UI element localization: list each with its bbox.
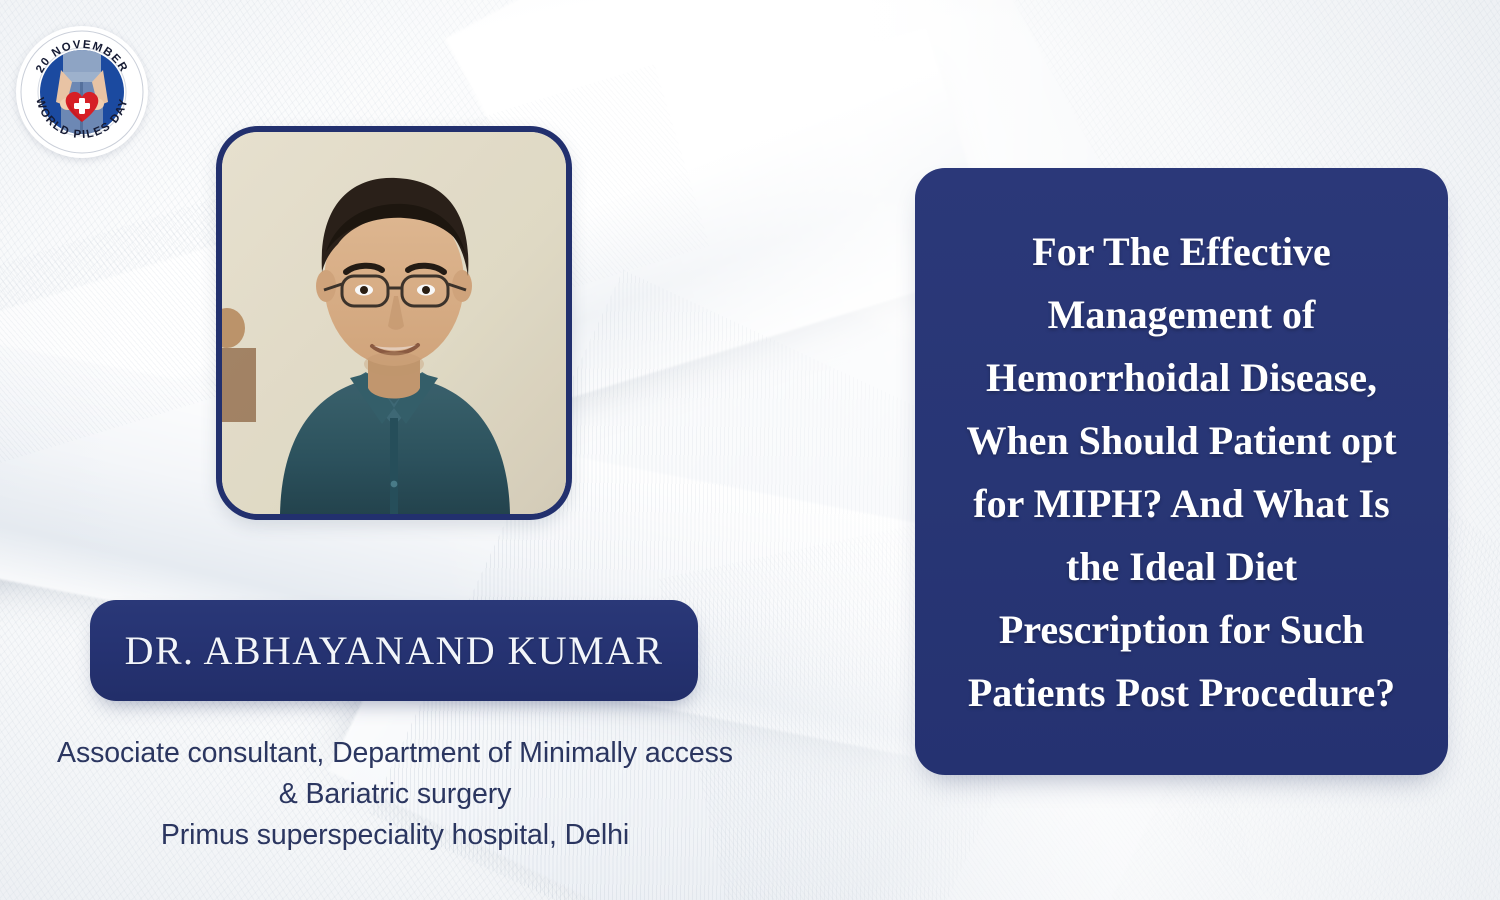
topic-line-2: Management of: [966, 283, 1396, 346]
poster-canvas: 20 NOVEMBER WORLD PILES DAY: [0, 0, 1500, 900]
speaker-photo: [216, 126, 572, 520]
topic-line-6: the Ideal Diet: [966, 535, 1396, 598]
affiliation-line-2: & Bariatric surgery: [0, 774, 790, 815]
speaker-portrait-illustration: [222, 132, 566, 514]
topic-line-3: Hemorrhoidal Disease,: [966, 346, 1396, 409]
topic-card: For The Effective Management of Hemorrho…: [915, 168, 1448, 775]
topic-line-8: Patients Post Procedure?: [966, 661, 1396, 724]
topic-text: For The Effective Management of Hemorrho…: [966, 220, 1396, 724]
topic-line-5: for MIPH? And What Is: [966, 472, 1396, 535]
speaker-name-banner: DR. ABHAYANAND KUMAR: [90, 600, 698, 701]
speaker-name: DR. ABHAYANAND KUMAR: [125, 627, 664, 674]
topic-line-1: For The Effective: [966, 220, 1396, 283]
topic-line-4: When Should Patient opt: [966, 409, 1396, 472]
affiliation-line-3: Primus superspeciality hospital, Delhi: [0, 815, 790, 856]
affiliation-line-1: Associate consultant, Department of Mini…: [0, 733, 790, 774]
topic-line-7: Prescription for Such: [966, 598, 1396, 661]
world-piles-day-logo: 20 NOVEMBER WORLD PILES DAY: [16, 26, 148, 158]
world-piles-day-badge-icon: 20 NOVEMBER WORLD PILES DAY: [16, 26, 148, 158]
speaker-affiliation: Associate consultant, Department of Mini…: [0, 733, 790, 856]
